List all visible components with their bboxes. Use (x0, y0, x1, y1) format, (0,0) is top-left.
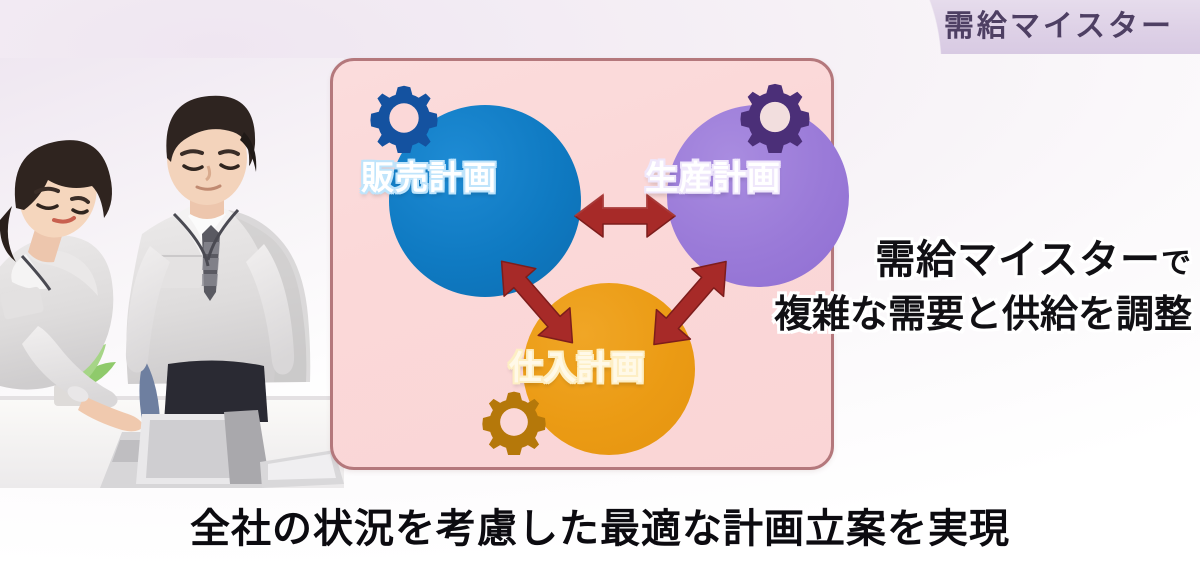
gear-icon-sales (369, 83, 439, 153)
slide-canvas: 需給マイスター (0, 0, 1200, 580)
bottom-caption: 全社の状況を考慮した最適な計画立案を実現 (0, 496, 1200, 554)
gear-icon-purchase (481, 389, 547, 455)
double-arrow-diagonal-icon-left (479, 247, 595, 357)
planning-diagram-panel: 販売計画 生産計画 仕入計画 (330, 58, 834, 470)
node-label-sales-plan: 販売計画 (361, 161, 497, 194)
brand-title: 需給マイスター (944, 5, 1174, 49)
headline-brand: 需給マイスター (875, 238, 1161, 282)
headline-line-1: 需給マイスターで (875, 240, 1192, 280)
office-workers-photo (0, 58, 344, 488)
node-label-purchase-plan: 仕入計画 (509, 351, 645, 384)
double-arrow-diagonal-icon-right (631, 247, 749, 359)
gear-icon-production (739, 81, 811, 153)
node-label-production-plan: 生産計画 (645, 161, 781, 194)
headline-particle: で (1161, 247, 1192, 280)
headline-line-2: 複雑な需要と供給を調整 (774, 296, 1192, 334)
